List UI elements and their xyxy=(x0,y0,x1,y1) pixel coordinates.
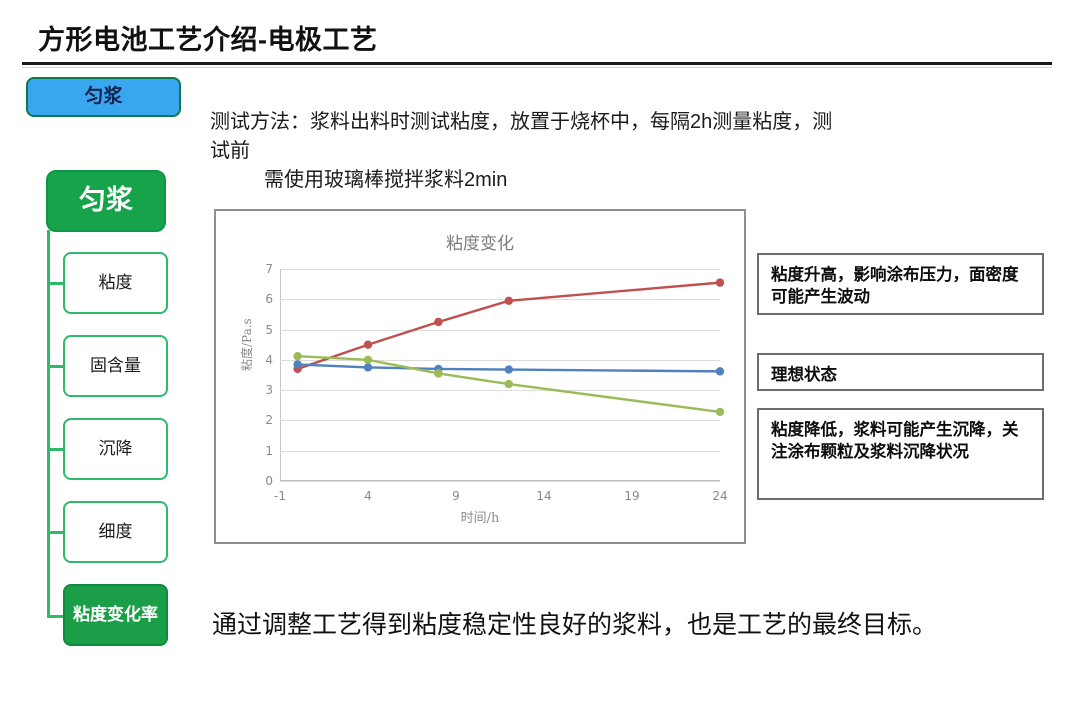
chart-plot-area: 01234567 -149141924 xyxy=(280,269,720,481)
x-tick-label: 9 xyxy=(452,489,460,503)
y-tick-label: 7 xyxy=(265,262,273,276)
chart-title: 粘度变化 xyxy=(216,229,744,254)
series-point xyxy=(364,341,372,349)
sidebar-stage-chip[interactable]: 匀浆 xyxy=(26,77,181,117)
series-point xyxy=(716,278,724,286)
page-title: 方形电池工艺介绍-电极工艺 xyxy=(38,18,378,57)
sidebar: 匀浆 匀浆 粘度 固含量 沉降 细度 粘度变化率 xyxy=(0,70,200,690)
x-tick-label: 4 xyxy=(364,489,372,503)
description-line-2: 需使用玻璃棒搅拌浆料2min xyxy=(210,166,850,195)
series-point xyxy=(505,365,513,373)
y-tick-label: 0 xyxy=(265,474,273,488)
x-axis-label: 时间/h xyxy=(216,507,744,526)
sidebar-item-sedimentation[interactable]: 沉降 xyxy=(63,418,168,480)
title-divider xyxy=(22,62,1052,65)
sidebar-item-viscosity-change-rate[interactable]: 粘度变化率 xyxy=(63,584,168,646)
description-line-1: 测试方法：浆料出料时测试粘度，放置于烧杯中，每隔2h测量粘度，测试前 xyxy=(210,108,850,166)
y-tick-label: 6 xyxy=(265,292,273,306)
series-point xyxy=(716,367,724,375)
y-tick-label: 5 xyxy=(265,323,273,337)
test-method-description: 测试方法：浆料出料时测试粘度，放置于烧杯中，每隔2h测量粘度，测试前 需使用玻璃… xyxy=(210,108,850,195)
viscosity-chart-panel: 粘度变化 01234567 -149141924 粘度/Pa.s 时间/h xyxy=(214,209,746,544)
title-divider-secondary xyxy=(22,67,1052,68)
y-tick-label: 3 xyxy=(265,383,273,397)
sidebar-item-solid-content[interactable]: 固含量 xyxy=(63,335,168,397)
sidebar-root-node[interactable]: 匀浆 xyxy=(46,170,166,232)
sidebar-item-viscosity[interactable]: 粘度 xyxy=(63,252,168,314)
series-point xyxy=(364,363,372,371)
x-tick-label: 14 xyxy=(536,489,551,503)
annotation-viscosity-drop: 粘度降低，浆料可能产生沉降，关注涂布颗粒及浆料沉降状况 xyxy=(757,408,1044,500)
series-point xyxy=(505,297,513,305)
annotation-ideal-state: 理想状态 xyxy=(757,353,1044,391)
x-tick-label: -1 xyxy=(274,489,286,503)
tree-trunk-line xyxy=(47,230,50,618)
x-tick-label: 24 xyxy=(712,489,727,503)
series-point xyxy=(505,380,513,388)
series-point xyxy=(364,356,372,364)
y-tick-label: 2 xyxy=(265,413,273,427)
series-point xyxy=(434,369,442,377)
x-tick-label: 19 xyxy=(624,489,639,503)
y-tick-label: 4 xyxy=(265,353,273,367)
series-point xyxy=(293,352,301,360)
sidebar-item-fineness[interactable]: 细度 xyxy=(63,501,168,563)
gridline xyxy=(280,481,720,482)
footer-conclusion: 通过调整工艺得到粘度稳定性良好的浆料，也是工艺的最终目标。 xyxy=(212,605,937,641)
series-point xyxy=(434,318,442,326)
annotation-viscosity-rise: 粘度升高，影响涂布压力，面密度可能产生波动 xyxy=(757,253,1044,315)
y-axis-label: 粘度/Pa.s xyxy=(238,318,255,371)
series-point xyxy=(716,408,724,416)
y-tick-label: 1 xyxy=(265,444,273,458)
series-point xyxy=(293,360,301,368)
series-line xyxy=(298,283,720,369)
chart-series-svg xyxy=(280,269,720,481)
